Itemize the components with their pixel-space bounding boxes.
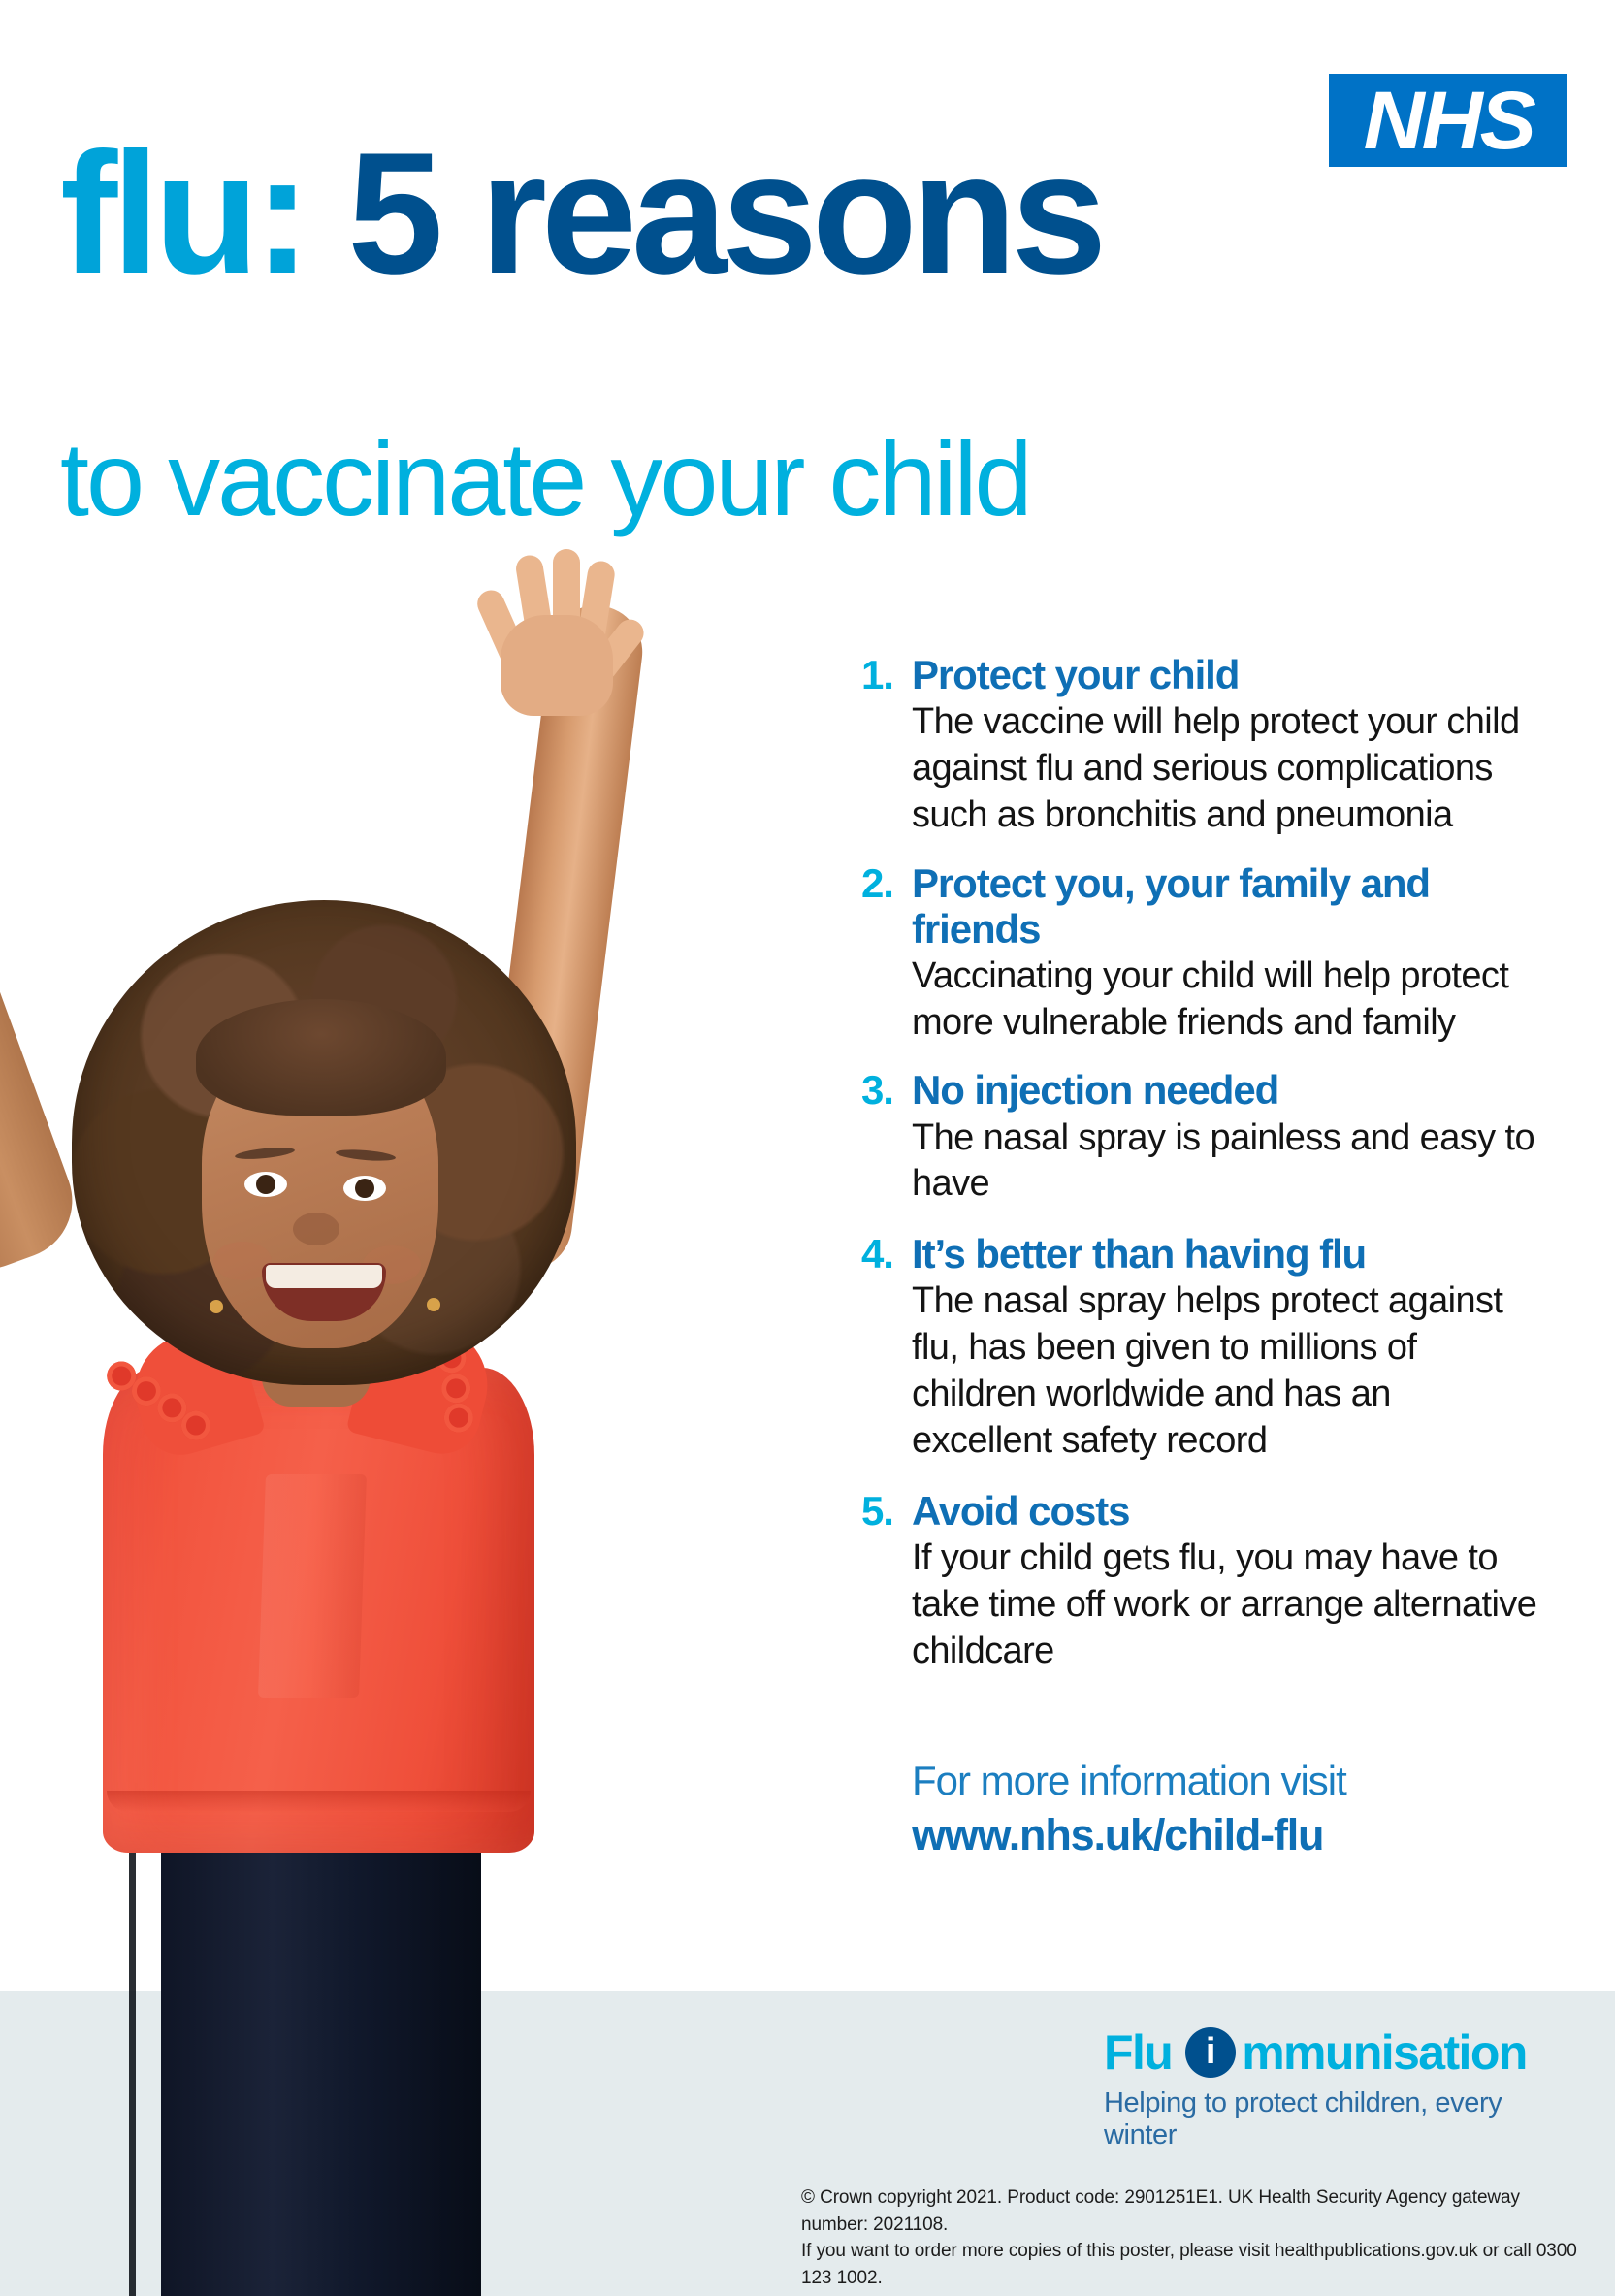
copyright-line-1: © Crown copyright 2021. Product code: 29…: [801, 2184, 1577, 2238]
reason-heading-5: 5. Avoid costs: [861, 1488, 1540, 1534]
reason-title-4: It’s better than having flu: [912, 1231, 1540, 1277]
reason-body-4: The nasal spray helps protect against fl…: [912, 1277, 1540, 1465]
reason-number-3: 3.: [861, 1067, 912, 1113]
lockup-title: Flu i mmunisation: [1104, 2027, 1569, 2078]
reason-heading-1: 1. Protect your child: [861, 652, 1540, 697]
reason-number-5: 5.: [861, 1488, 912, 1534]
reasons-list: 1. Protect your child The vaccine will h…: [861, 652, 1540, 1680]
reason-heading-4: 4. It’s better than having flu: [861, 1231, 1540, 1277]
reason-number-1: 1.: [861, 652, 912, 697]
reason-heading-3: 3. No injection needed: [861, 1067, 1540, 1113]
child-earring-right: [427, 1298, 440, 1311]
reason-item-5: 5. Avoid costs If your child gets flu, y…: [861, 1488, 1540, 1675]
reason-number-2: 2.: [861, 860, 912, 906]
reason-body-3: The nasal spray is painless and easy to …: [912, 1114, 1540, 1209]
headline-part-reasons: 5 reasons: [347, 116, 1101, 309]
reason-item-1: 1. Protect your child The vaccine will h…: [861, 652, 1540, 839]
child-earring-left: [210, 1300, 223, 1313]
reason-item-3: 3. No injection needed The nasal spray i…: [861, 1067, 1540, 1208]
reason-number-4: 4.: [861, 1231, 912, 1277]
reason-title-3: No injection needed: [912, 1067, 1540, 1113]
child-nose: [293, 1213, 339, 1245]
headline-part-flu: flu:: [60, 116, 347, 309]
reason-title-1: Protect your child: [912, 652, 1540, 697]
lockup-tagline: Helping to protect children, every winte…: [1104, 2087, 1569, 2151]
page-title: flu: 5 reasons: [60, 132, 1554, 294]
child-eye-left: [244, 1172, 287, 1197]
child-top-pleat: [258, 1474, 367, 1698]
reason-title-2: Protect you, your family and friends: [912, 860, 1540, 952]
more-information-url[interactable]: www.nhs.uk/child-flu: [912, 1809, 1552, 1862]
child-teeth: [266, 1265, 382, 1288]
child-left-arm: [0, 853, 88, 1285]
more-information-label: For more information visit: [912, 1756, 1552, 1805]
page-subtitle: to vaccinate your child: [60, 427, 1030, 532]
poster-root: NHS flu: 5 reasons to vaccinate your chi…: [0, 0, 1615, 2296]
child-palm: [501, 615, 613, 716]
reason-title-5: Avoid costs: [912, 1488, 1540, 1534]
reason-body-5: If your child gets flu, you may have to …: [912, 1534, 1540, 1675]
child-eye-right: [343, 1176, 386, 1201]
child-top-hem: [107, 1791, 531, 1812]
copyright-line-2: If you want to order more copies of this…: [801, 2238, 1577, 2291]
reason-body-1: The vaccine will help protect your child…: [912, 697, 1540, 839]
copyright-block: © Crown copyright 2021. Product code: 29…: [801, 2184, 1577, 2292]
child-photo: [0, 543, 824, 2296]
info-circle-icon: i: [1185, 2027, 1236, 2078]
reason-item-2: 2. Protect you, your family and friends …: [861, 860, 1540, 1047]
more-information: For more information visit www.nhs.uk/ch…: [912, 1756, 1552, 1862]
child-right-hand: [475, 543, 640, 708]
reason-body-2: Vaccinating your child will help protect…: [912, 952, 1540, 1047]
child-photo-inner: [0, 543, 824, 2296]
lockup-word-mmunisation: mmunisation: [1242, 2028, 1527, 2077]
reason-item-4: 4. It’s better than having flu The nasal…: [861, 1231, 1540, 1465]
child-hair-fringe: [196, 999, 446, 1116]
lockup-word-flu: Flu: [1104, 2028, 1172, 2077]
child-leg-seam: [129, 1853, 136, 2296]
reason-heading-2: 2. Protect you, your family and friends: [861, 860, 1540, 952]
flu-immunisation-lockup: Flu i mmunisation Helping to protect chi…: [1104, 2027, 1569, 2151]
